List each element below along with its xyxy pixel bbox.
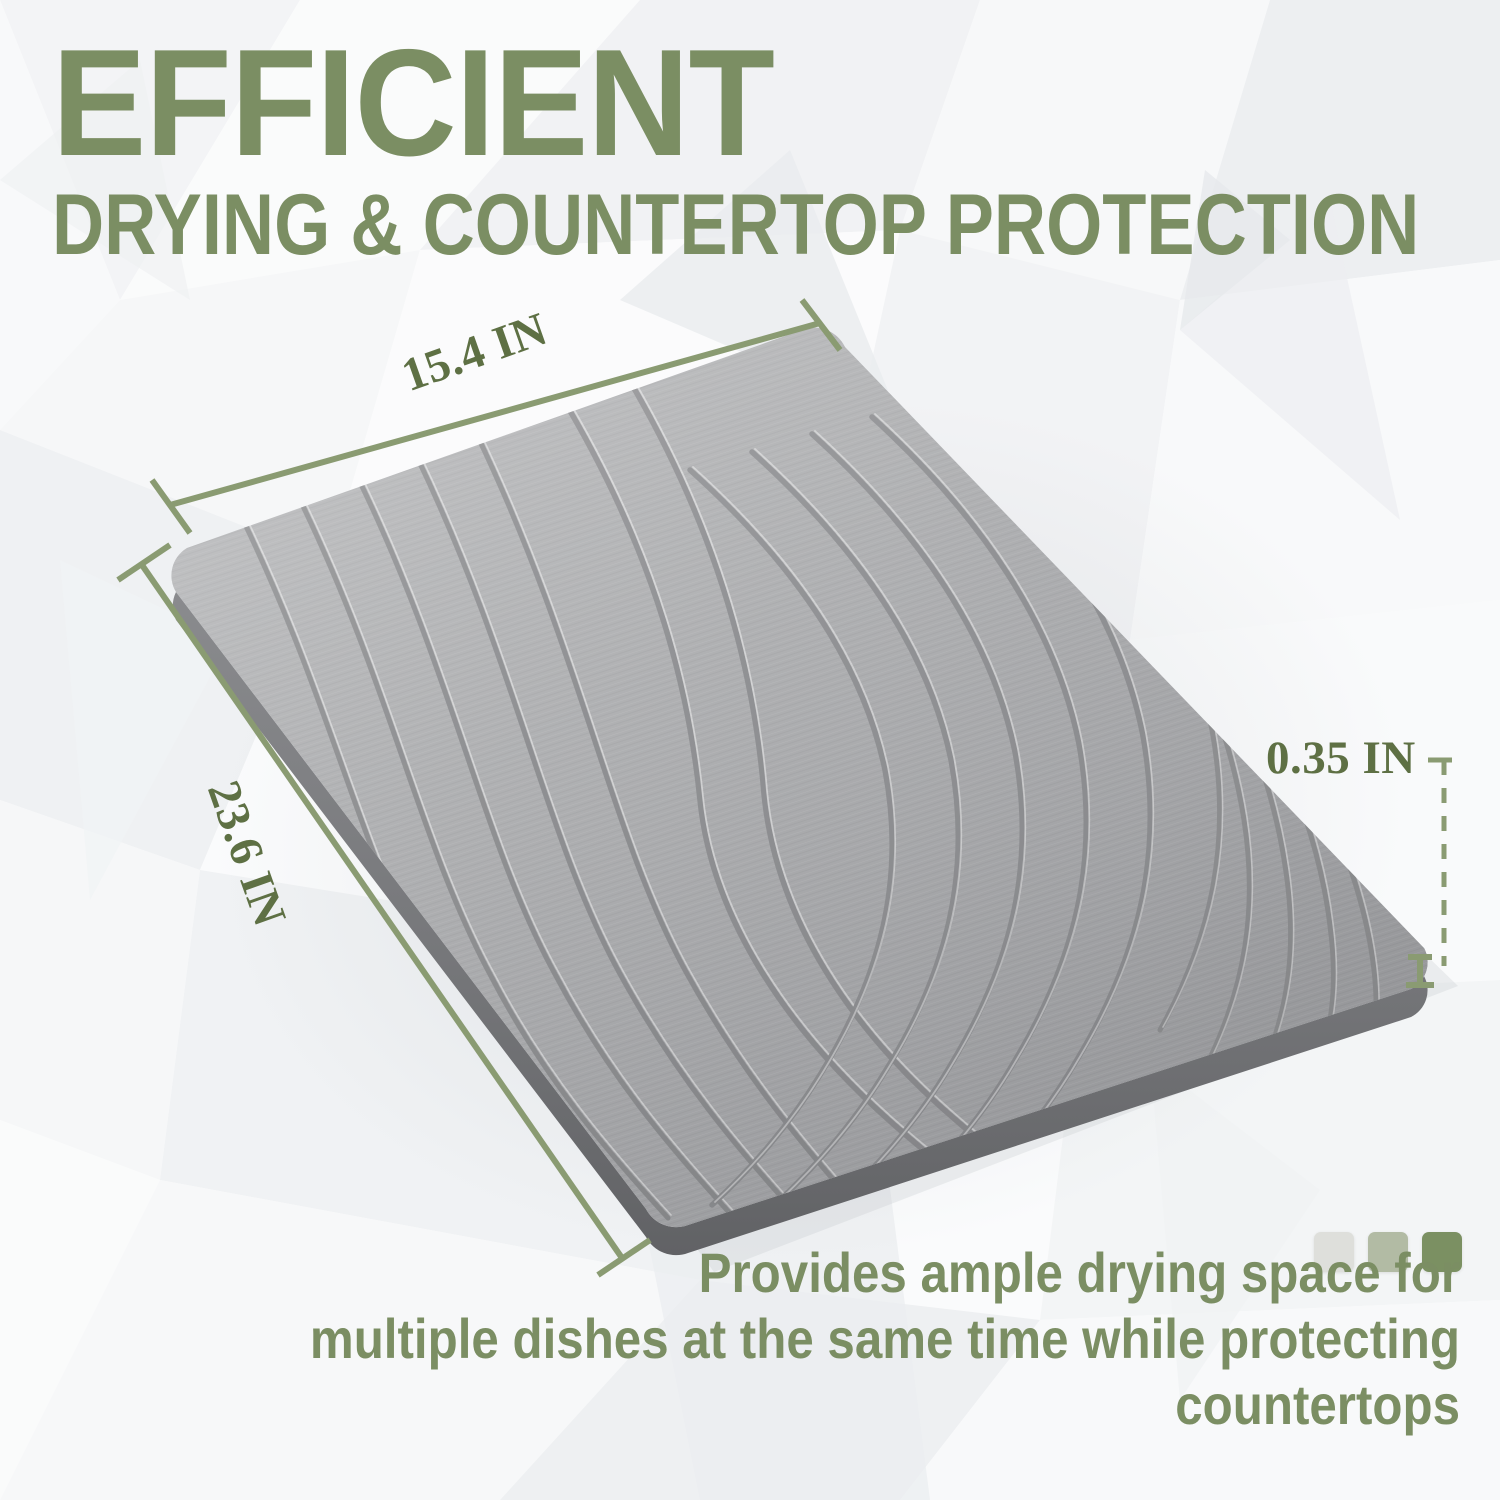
thickness-dimension-label: 0.35 IN: [1266, 731, 1416, 785]
caption-line-1: Provides ample drying space for: [193, 1240, 1460, 1306]
thickness-dimension-line: [1428, 760, 1452, 966]
product-caption: Provides ample drying space for multiple…: [193, 1240, 1460, 1438]
caption-line-2: multiple dishes at the same time while p…: [193, 1306, 1460, 1438]
product-infographic: EFFICIENT DRYING & COUNTERTOP PROTECTION: [0, 0, 1500, 1500]
